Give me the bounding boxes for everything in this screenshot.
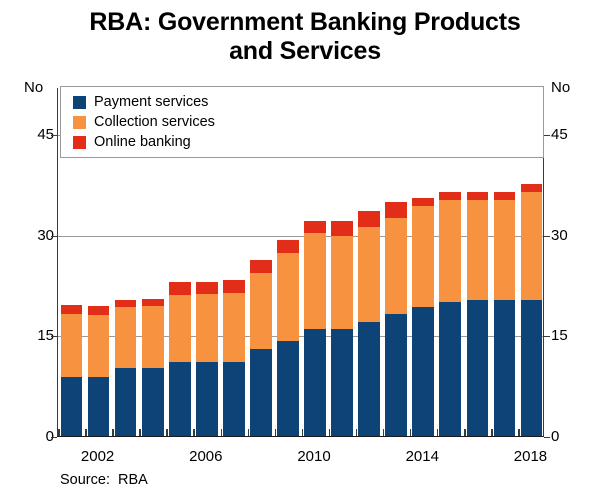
bar-segment-2007-collection-services — [223, 293, 245, 362]
x-tick-mark-2001 — [58, 429, 60, 436]
x-tick-mark-2005 — [166, 429, 168, 436]
legend-swatch-online-banking — [73, 136, 86, 149]
bar-2015 — [439, 192, 461, 436]
bar-segment-2012-collection-services — [358, 227, 380, 322]
x-tick-mark-2014 — [410, 429, 412, 436]
bar-segment-2003-payment-services — [115, 368, 137, 436]
bar-segment-2013-collection-services — [385, 218, 407, 314]
y-tick-label-right-45: 45 — [551, 127, 591, 142]
bar-segment-2015-online-banking — [439, 192, 461, 200]
bar-segment-2001-online-banking — [61, 305, 83, 314]
bar-segment-2003-collection-services — [115, 307, 137, 368]
bar-segment-2002-collection-services — [88, 315, 110, 377]
x-tick-mark-2013 — [383, 429, 385, 436]
y-tick-label-left-15: 15 — [20, 328, 54, 343]
chart-title-line-2: and Services — [0, 37, 610, 66]
bar-segment-2014-online-banking — [412, 198, 434, 207]
bar-segment-2013-online-banking — [385, 202, 407, 217]
bar-segment-2008-online-banking — [250, 260, 272, 273]
x-tick-mark-2017 — [491, 429, 493, 436]
bar-segment-2008-payment-services — [250, 349, 272, 436]
y-tick-label-right-0: 0 — [551, 429, 591, 444]
legend-item-online-banking: Online banking — [73, 133, 191, 151]
x-tick-mark-2007 — [221, 429, 223, 436]
bar-2011 — [331, 221, 353, 436]
bar-segment-2011-collection-services — [331, 236, 353, 329]
bar-segment-2012-payment-services — [358, 322, 380, 436]
bar-2008 — [250, 260, 272, 436]
y-axis-unit-right: No — [551, 80, 570, 95]
bar-2018 — [521, 184, 543, 436]
y-tick-mark-left-45 — [51, 135, 57, 136]
bar-segment-2015-payment-services — [439, 302, 461, 436]
bar-segment-2015-collection-services — [439, 200, 461, 302]
x-tick-mark-2018 — [518, 429, 520, 436]
bar-segment-2012-online-banking — [358, 211, 380, 228]
x-tick-label-2002: 2002 — [63, 449, 133, 464]
bar-2002 — [88, 306, 110, 436]
legend-label-payment-services: Payment services — [94, 95, 208, 110]
bar-segment-2017-collection-services — [494, 200, 516, 301]
y-tick-label-left-45: 45 — [20, 127, 54, 142]
bar-segment-2001-payment-services — [61, 377, 83, 436]
bar-2005 — [169, 282, 191, 436]
chart-root: RBA: Government Banking Products and Ser… — [0, 0, 610, 499]
bar-2016 — [467, 192, 489, 436]
x-tick-mark-2010 — [302, 429, 304, 436]
bar-segment-2006-collection-services — [196, 294, 218, 362]
x-tick-mark-2002 — [85, 429, 87, 436]
x-tick-mark-2009 — [275, 429, 277, 436]
bar-segment-2007-payment-services — [223, 362, 245, 436]
bar-segment-2006-online-banking — [196, 282, 218, 294]
bar-segment-2016-collection-services — [467, 200, 489, 301]
bar-segment-2013-payment-services — [385, 314, 407, 436]
y-tick-mark-right-0 — [544, 437, 550, 438]
bar-segment-2009-collection-services — [277, 253, 299, 340]
bar-2004 — [142, 299, 164, 436]
bar-segment-2004-payment-services — [142, 368, 164, 436]
bar-segment-2010-collection-services — [304, 233, 326, 329]
bar-segment-2010-online-banking — [304, 221, 326, 234]
bar-segment-2018-payment-services — [521, 300, 543, 436]
bar-2009 — [277, 240, 299, 436]
y-tick-mark-right-45 — [544, 135, 550, 136]
x-tick-mark-2004 — [139, 429, 141, 436]
legend-label-online-banking: Online banking — [94, 135, 191, 150]
x-tick-mark-2003 — [112, 429, 114, 436]
y-axis-unit-left: No — [24, 80, 43, 95]
bar-2010 — [304, 221, 326, 436]
bar-segment-2009-online-banking — [277, 240, 299, 253]
y-tick-mark-left-0 — [51, 437, 57, 438]
bar-segment-2016-payment-services — [467, 300, 489, 436]
bar-segment-2017-online-banking — [494, 192, 516, 199]
bar-segment-2017-payment-services — [494, 300, 516, 436]
x-tick-label-2010: 2010 — [279, 449, 349, 464]
legend-item-payment-services: Payment services — [73, 93, 208, 111]
bar-2006 — [196, 282, 218, 436]
bar-segment-2007-online-banking — [223, 280, 245, 293]
x-tick-mark-2012 — [356, 429, 358, 436]
bar-2012 — [358, 211, 380, 437]
y-tick-label-right-30: 30 — [551, 228, 591, 243]
bar-segment-2014-payment-services — [412, 307, 434, 436]
legend-label-collection-services: Collection services — [94, 115, 215, 130]
bar-segment-2009-payment-services — [277, 341, 299, 436]
bar-segment-2011-payment-services — [331, 329, 353, 436]
y-tick-label-right-15: 15 — [551, 328, 591, 343]
bar-segment-2005-payment-services — [169, 362, 191, 436]
chart-legend: Payment services Collection services Onl… — [60, 86, 544, 158]
bar-segment-2002-payment-services — [88, 377, 110, 436]
legend-swatch-payment-services — [73, 96, 86, 109]
bar-segment-2002-online-banking — [88, 306, 110, 314]
bar-2001 — [61, 305, 83, 436]
bar-segment-2004-collection-services — [142, 306, 164, 368]
bar-segment-2001-collection-services — [61, 314, 83, 377]
source-note: Source: RBA — [60, 473, 148, 488]
bar-2017 — [494, 192, 516, 436]
y-tick-mark-right-30 — [544, 236, 550, 237]
x-tick-mark-2006 — [193, 429, 195, 436]
bar-segment-2010-payment-services — [304, 329, 326, 436]
legend-item-collection-services: Collection services — [73, 113, 215, 131]
x-tick-mark-2011 — [329, 429, 331, 436]
x-tick-label-2014: 2014 — [387, 449, 457, 464]
y-tick-label-left-0: 0 — [20, 429, 54, 444]
bar-2014 — [412, 198, 434, 436]
legend-swatch-collection-services — [73, 116, 86, 129]
y-tick-label-left-30: 30 — [20, 228, 54, 243]
y-tick-mark-left-30 — [51, 236, 57, 237]
bar-segment-2018-collection-services — [521, 192, 543, 300]
chart-title-line-1: RBA: Government Banking Products — [0, 8, 610, 37]
bar-segment-2004-online-banking — [142, 299, 164, 306]
bar-2013 — [385, 202, 407, 436]
x-tick-label-2006: 2006 — [171, 449, 241, 464]
chart-title: RBA: Government Banking Products and Ser… — [0, 8, 610, 66]
x-tick-mark-2016 — [464, 429, 466, 436]
bar-segment-2018-online-banking — [521, 184, 543, 192]
bar-segment-2003-online-banking — [115, 300, 137, 307]
bar-segment-2016-online-banking — [467, 192, 489, 199]
bar-2003 — [115, 300, 137, 436]
x-tick-mark-2015 — [437, 429, 439, 436]
bar-segment-2014-collection-services — [412, 206, 434, 307]
y-tick-mark-right-15 — [544, 336, 550, 337]
bar-segment-2005-collection-services — [169, 295, 191, 362]
bar-segment-2006-payment-services — [196, 362, 218, 436]
bar-segment-2005-online-banking — [169, 282, 191, 295]
x-tick-label-2018: 2018 — [495, 449, 565, 464]
x-tick-mark-2008 — [248, 429, 250, 436]
bar-2007 — [223, 280, 245, 436]
bar-segment-2011-online-banking — [331, 221, 353, 236]
bar-segment-2008-collection-services — [250, 273, 272, 349]
y-tick-mark-left-15 — [51, 336, 57, 337]
